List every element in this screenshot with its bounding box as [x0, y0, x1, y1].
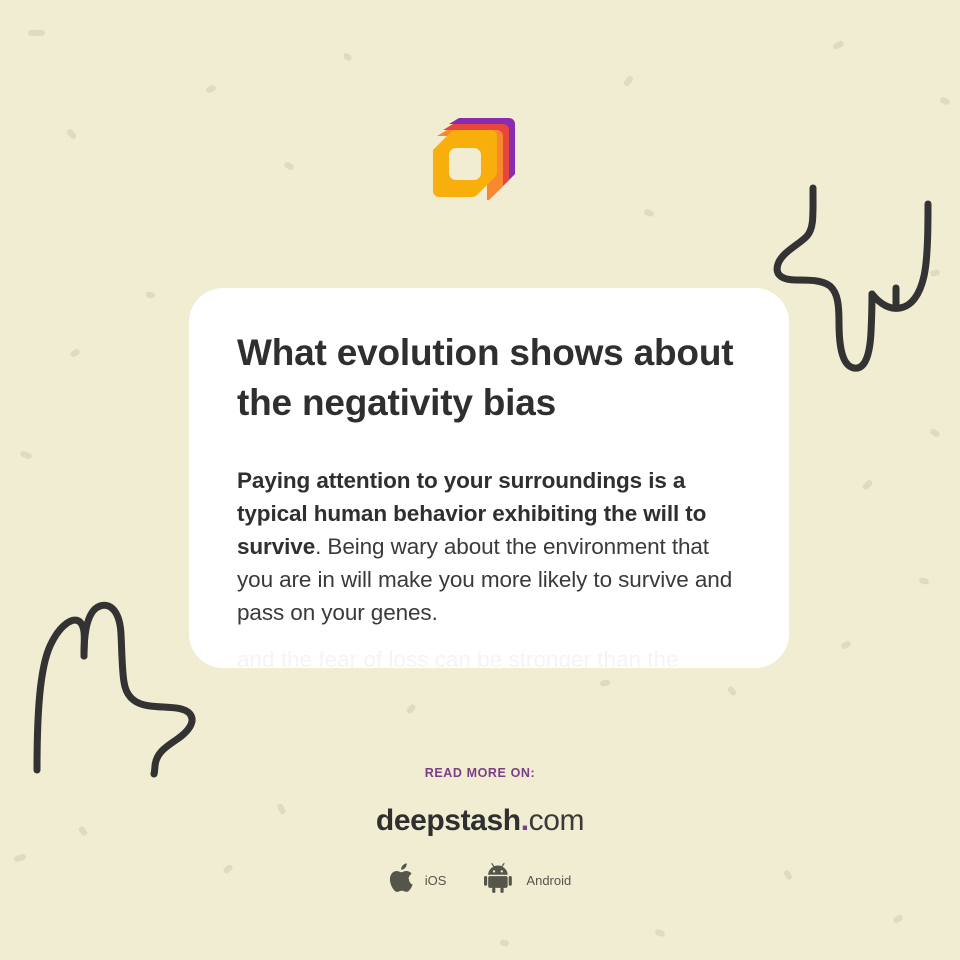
poster-canvas: What evolution shows about the negativit…: [0, 0, 960, 960]
card-clipped-text: and the fear of loss can be stronger tha…: [237, 643, 741, 668]
wordmark-name: deepstash: [376, 804, 521, 837]
page-title: What evolution shows about the negativit…: [237, 328, 741, 428]
store-label-android: Android: [526, 873, 571, 888]
android-icon: [484, 863, 518, 898]
idea-card: What evolution shows about the negativit…: [189, 288, 789, 668]
card-body-text: Paying attention to your surroundings is…: [237, 464, 741, 629]
pointing-hand-left-illustration: [26, 562, 212, 784]
store-label-ios: iOS: [425, 873, 447, 888]
footer: READ MORE ON: deepstash.com iOS: [0, 766, 960, 899]
store-badges: iOS: [0, 862, 960, 899]
apple-icon: [389, 862, 417, 899]
wordmark-tld: com: [529, 804, 584, 837]
store-badge-ios[interactable]: iOS: [389, 862, 447, 899]
read-more-label: READ MORE ON:: [0, 766, 960, 780]
deepstash-wordmark[interactable]: deepstash.com: [0, 806, 960, 836]
store-badge-android[interactable]: Android: [484, 863, 571, 898]
deepstash-logo: [425, 100, 525, 200]
wordmark-dot: .: [521, 804, 529, 837]
